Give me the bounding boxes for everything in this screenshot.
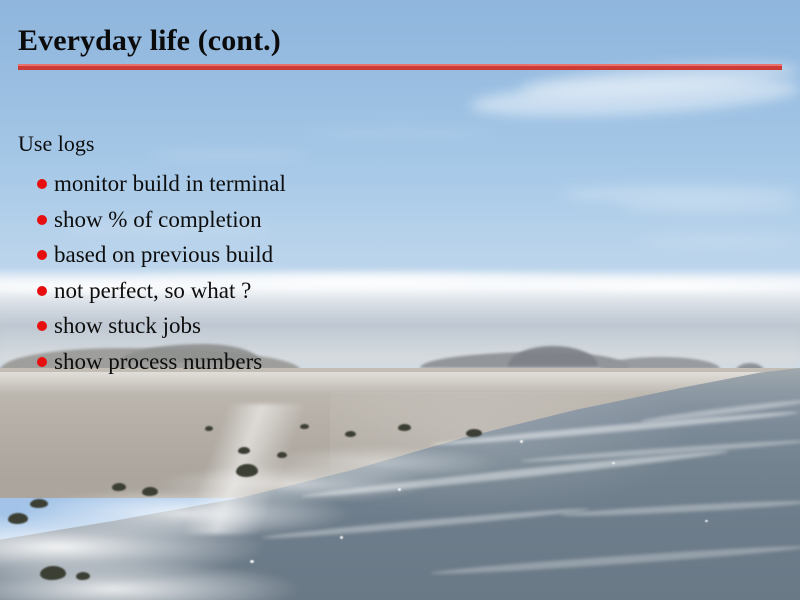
water-sparkle — [612, 462, 615, 464]
list-item: monitor build in terminal — [18, 166, 718, 202]
rock — [30, 499, 48, 508]
water-sparkle — [520, 440, 523, 443]
rock — [238, 447, 250, 454]
bullet-dot-icon — [37, 215, 47, 225]
rock — [8, 513, 28, 524]
water-sparkle — [250, 560, 254, 563]
list-item-label: show % of completion — [54, 207, 262, 232]
lead-text: Use logs — [18, 130, 718, 158]
bullet-dot-icon — [37, 286, 47, 296]
water-sparkle — [705, 520, 708, 522]
rock — [142, 487, 158, 496]
slide-body: Use logs monitor build in terminal show … — [18, 130, 718, 379]
slide: Everyday life (cont.) Use logs monitor b… — [0, 0, 800, 600]
rock — [466, 429, 482, 437]
bullet-dot-icon — [37, 321, 47, 331]
list-item: based on previous build — [18, 237, 718, 273]
rock — [40, 566, 66, 580]
list-item: show % of completion — [18, 202, 718, 238]
title-underline-rule — [18, 64, 782, 70]
rock — [236, 464, 258, 477]
page-title: Everyday life (cont.) — [18, 24, 281, 58]
bullet-dot-icon — [37, 250, 47, 260]
list-item: show stuck jobs — [18, 308, 718, 344]
rock — [76, 572, 90, 580]
rock — [112, 483, 126, 491]
bullet-dot-icon — [37, 357, 47, 367]
water-sparkle — [398, 488, 401, 491]
list-item: show process numbers — [18, 344, 718, 380]
bullet-list: monitor build in terminal show % of comp… — [18, 166, 718, 379]
list-item-label: monitor build in terminal — [54, 171, 286, 196]
list-item-label: based on previous build — [54, 242, 273, 267]
list-item: not perfect, so what ? — [18, 273, 718, 309]
rock — [398, 424, 411, 431]
list-item-label: not perfect, so what ? — [54, 278, 251, 303]
rock — [205, 426, 213, 431]
list-item-label: show process numbers — [54, 349, 262, 374]
list-item-label: show stuck jobs — [54, 313, 201, 338]
rock — [345, 431, 356, 437]
rock — [277, 452, 287, 458]
water-sparkle — [340, 536, 343, 539]
rock — [300, 424, 309, 429]
bullet-dot-icon — [37, 179, 47, 189]
